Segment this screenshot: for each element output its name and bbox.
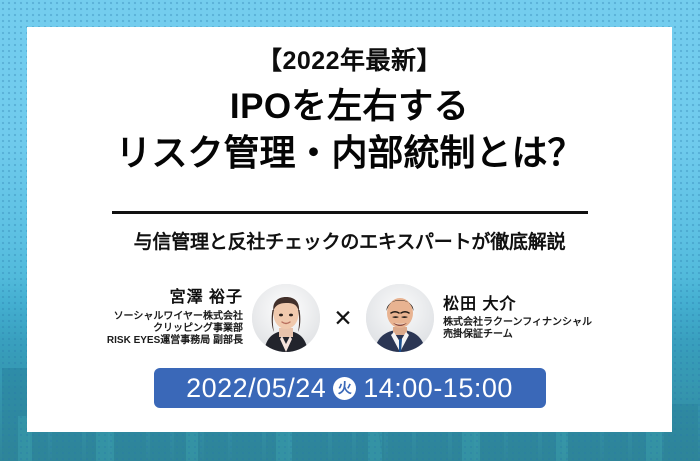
speaker-left-affiliation-line-2: クリッピング事業部 [107, 323, 243, 335]
speaker-right-affiliation-line-1: 株式会社ラクーンフィナンシャル [443, 317, 592, 329]
speaker-photo-matsuda [366, 284, 434, 352]
subtitle: 与信管理と反社チェックのエキスパートが徹底解説 [27, 227, 672, 254]
speaker-left-name: 宮澤 裕子 [107, 288, 243, 308]
page-title: IPOを左右する リスク管理・内部統制とは？ [27, 85, 672, 176]
title-line-2: リスク管理・内部統制とは？ [27, 130, 672, 176]
day-of-week-badge: 火 [333, 377, 356, 400]
speaker-left-affiliation-line-3: RISK EYES運営事務局 副部長 [107, 335, 243, 347]
event-date: 2022/05/24 [186, 375, 326, 402]
speaker-right-info: 松田 大介 株式会社ラクーンフィナンシャル 売掛保証チーム [443, 295, 592, 342]
speaker-left: 宮澤 裕子 ソーシャルワイヤー株式会社 クリッピング事業部 RISK EYES運… [107, 284, 320, 352]
date-time-banner: 2022/05/24 火 14:00-15:00 [154, 368, 546, 408]
content-card: 【2022年最新】 IPOを左右する リスク管理・内部統制とは？ 与信管理と反社… [27, 27, 672, 432]
title-divider [112, 211, 588, 214]
speaker-photo-miyazawa [252, 284, 320, 352]
speaker-right-name: 松田 大介 [443, 295, 592, 315]
kicker-label: 【2022年最新】 [27, 49, 672, 74]
speakers-row: 宮澤 裕子 ソーシャルワイヤー株式会社 クリッピング事業部 RISK EYES運… [27, 275, 672, 361]
speaker-separator-icon: ✕ [320, 307, 366, 330]
speaker-left-info: 宮澤 裕子 ソーシャルワイヤー株式会社 クリッピング事業部 RISK EYES運… [107, 288, 243, 347]
speaker-right: 松田 大介 株式会社ラクーンフィナンシャル 売掛保証チーム [366, 284, 592, 352]
speaker-left-affiliation-line-1: ソーシャルワイヤー株式会社 [107, 311, 243, 323]
webinar-poster: 【2022年最新】 IPOを左右する リスク管理・内部統制とは？ 与信管理と反社… [0, 0, 700, 461]
title-line-1: IPOを左右する [27, 85, 672, 130]
speaker-right-affiliation-line-2: 売掛保証チーム [443, 329, 592, 341]
event-time-range: 14:00-15:00 [363, 375, 513, 402]
